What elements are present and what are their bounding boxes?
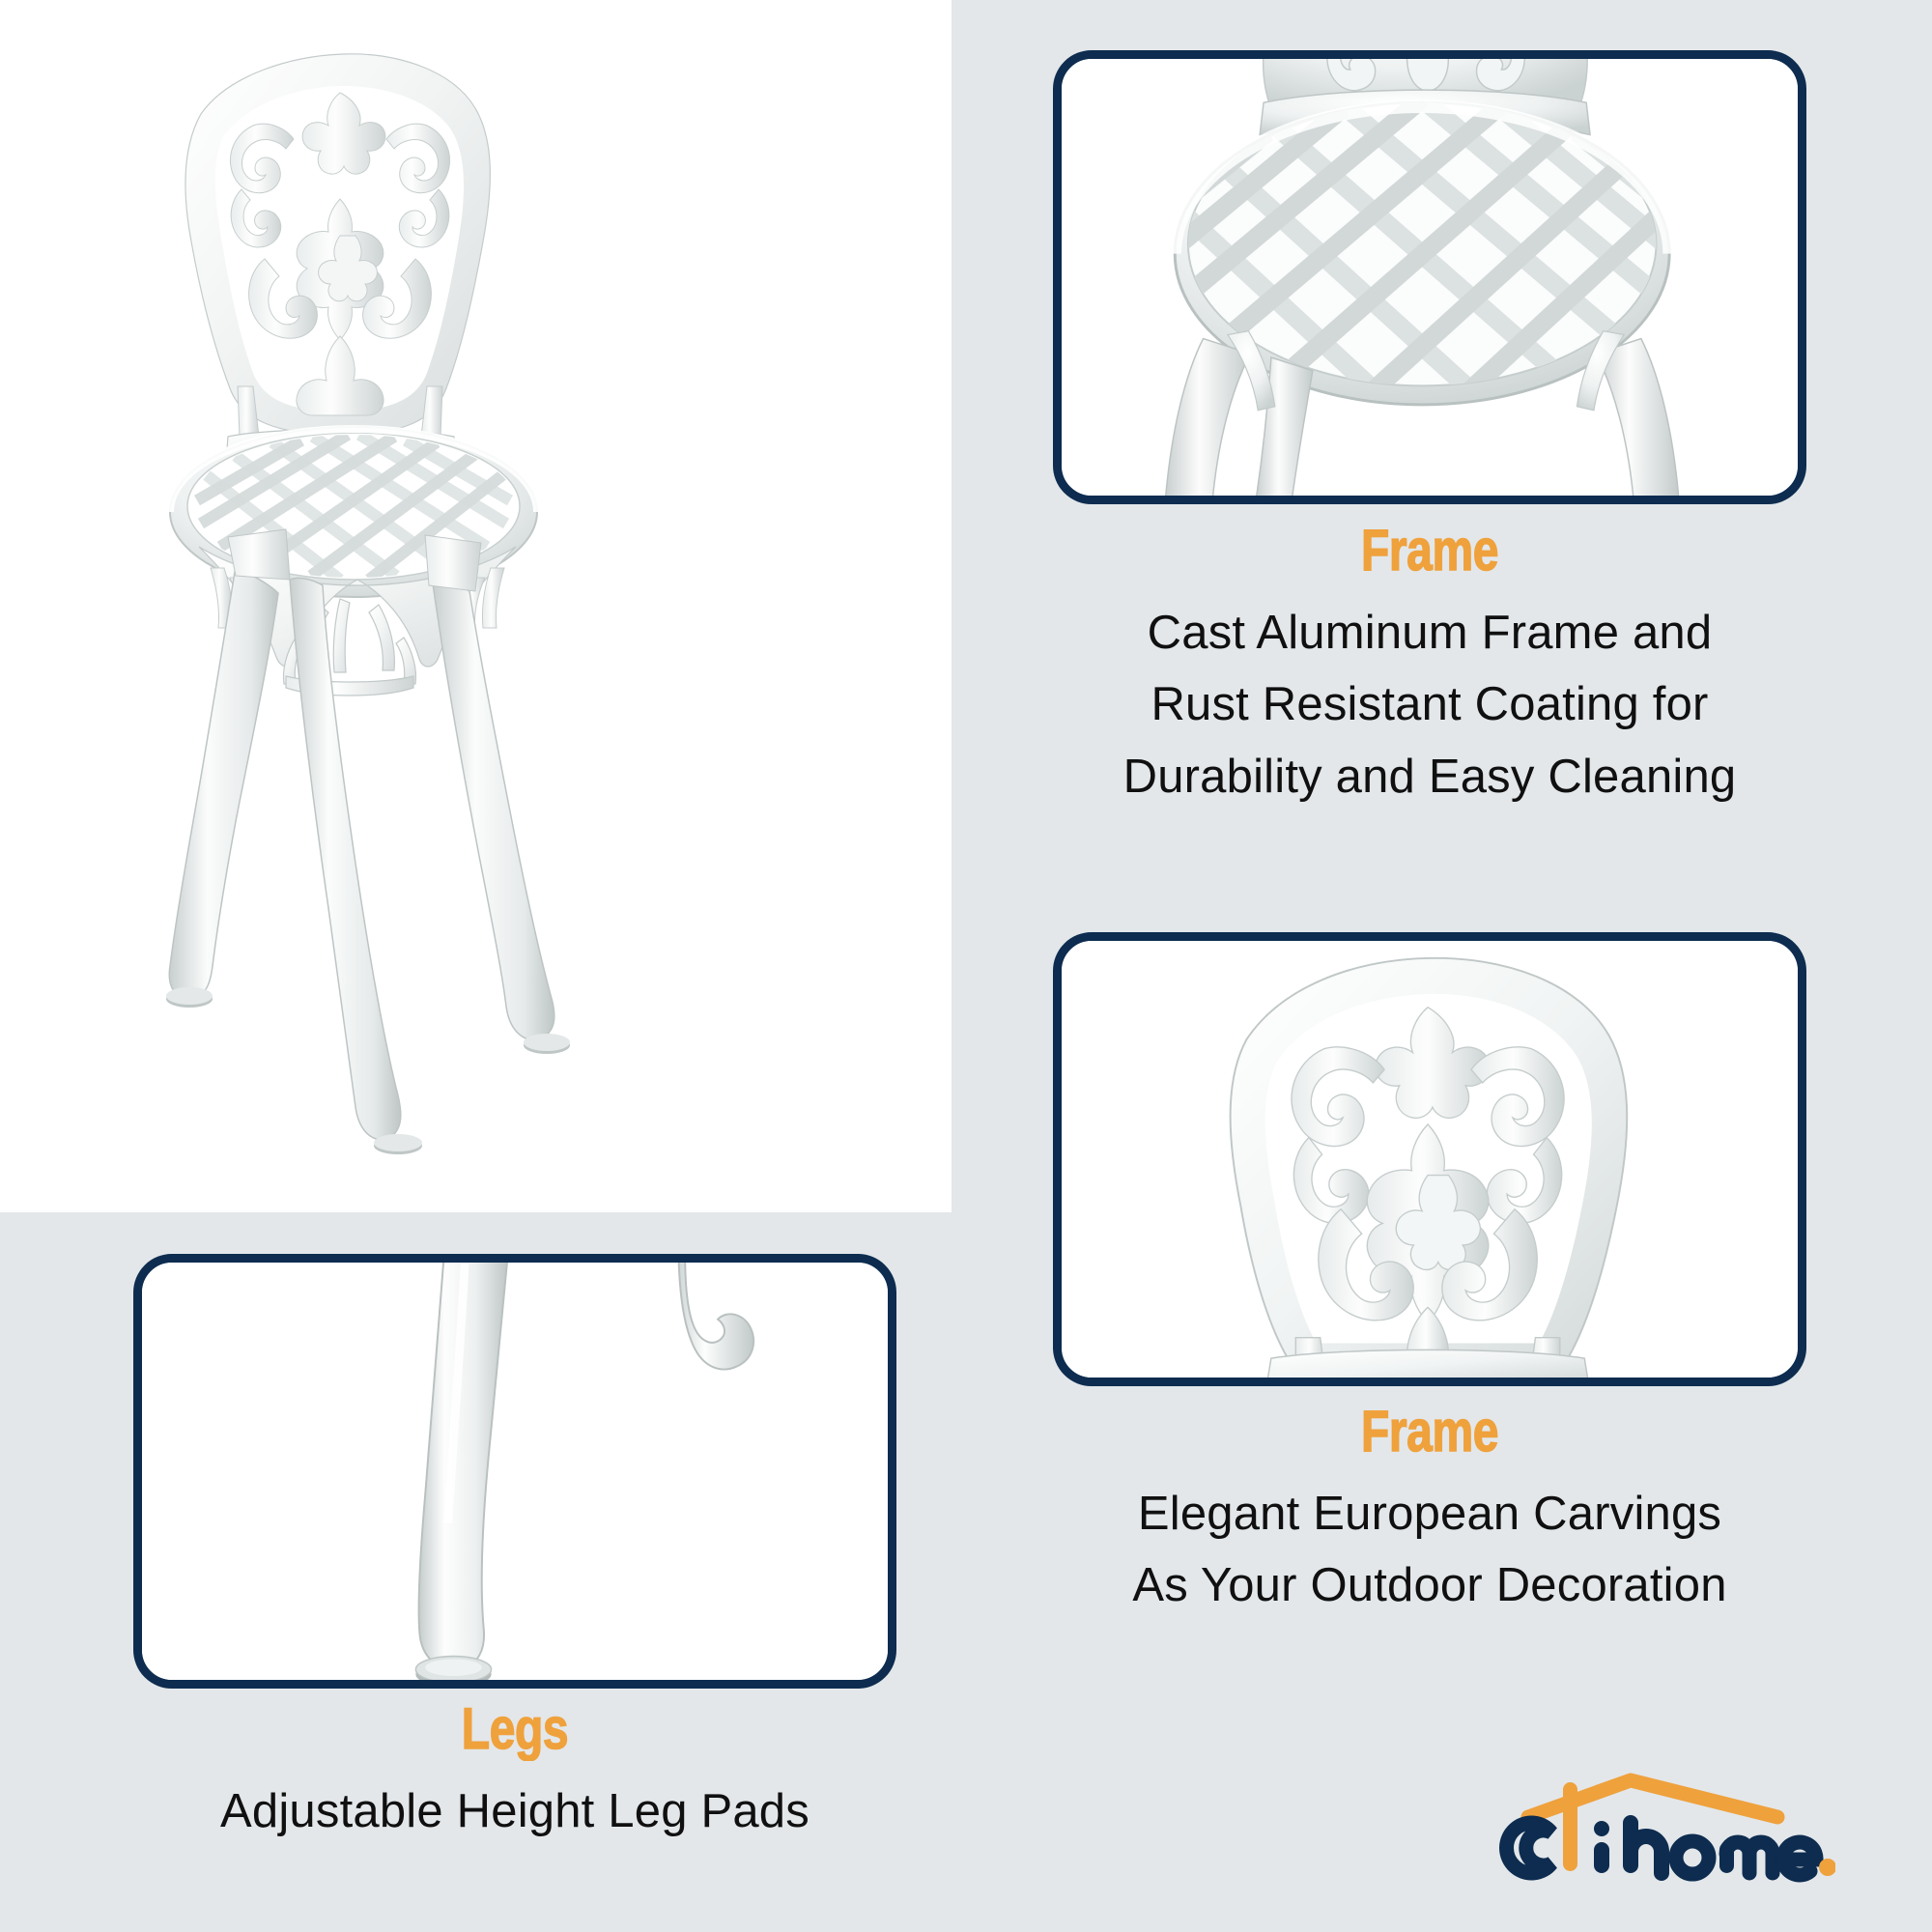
caption-line: Elegant European Carvings [1053,1478,1806,1549]
caption-line: Adjustable Height Leg Pads [133,1776,896,1847]
hero-product-image [0,0,952,1212]
caption-line: Cast Aluminum Frame and [1053,597,1806,668]
caption-legs: Legs Adjustable Height Leg Pads [133,1700,896,1847]
caption-heading-frame-top: Frame [1128,522,1731,580]
caption-line: Rust Resistant Coating for [1053,668,1806,740]
panel-frame-seat-closeup [1053,50,1806,504]
brand-logo [1488,1773,1835,1889]
caption-line: Durability and Easy Cleaning [1053,741,1806,812]
legs-closeup-image [142,1263,888,1680]
letter-t-stem [1563,1782,1577,1871]
caption-body-frame-top: Cast Aluminum Frame and Rust Resistant C… [1053,597,1806,812]
ctihome-logo [1488,1773,1835,1889]
caption-body-frame-bottom: Elegant European Carvings As Your Outdoo… [1053,1478,1806,1622]
caption-heading-frame-bottom: Frame [1128,1403,1731,1461]
seat-closeup-image [1062,59,1798,496]
caption-line: As Your Outdoor Decoration [1053,1549,1806,1621]
caption-frame-top: Frame Cast Aluminum Frame and Rust Resis… [1053,522,1806,812]
panel-legs-closeup [133,1254,896,1689]
caption-body-legs: Adjustable Height Leg Pads [133,1776,896,1847]
caption-heading-legs: Legs [210,1700,820,1758]
backrest-closeup-image [1062,941,1798,1378]
caption-frame-bottom: Frame Elegant European Carvings As Your … [1053,1403,1806,1622]
bistro-chair-illustration [0,0,952,1212]
panel-frame-backrest-closeup [1053,932,1806,1386]
wordmark [1507,1815,1817,1875]
